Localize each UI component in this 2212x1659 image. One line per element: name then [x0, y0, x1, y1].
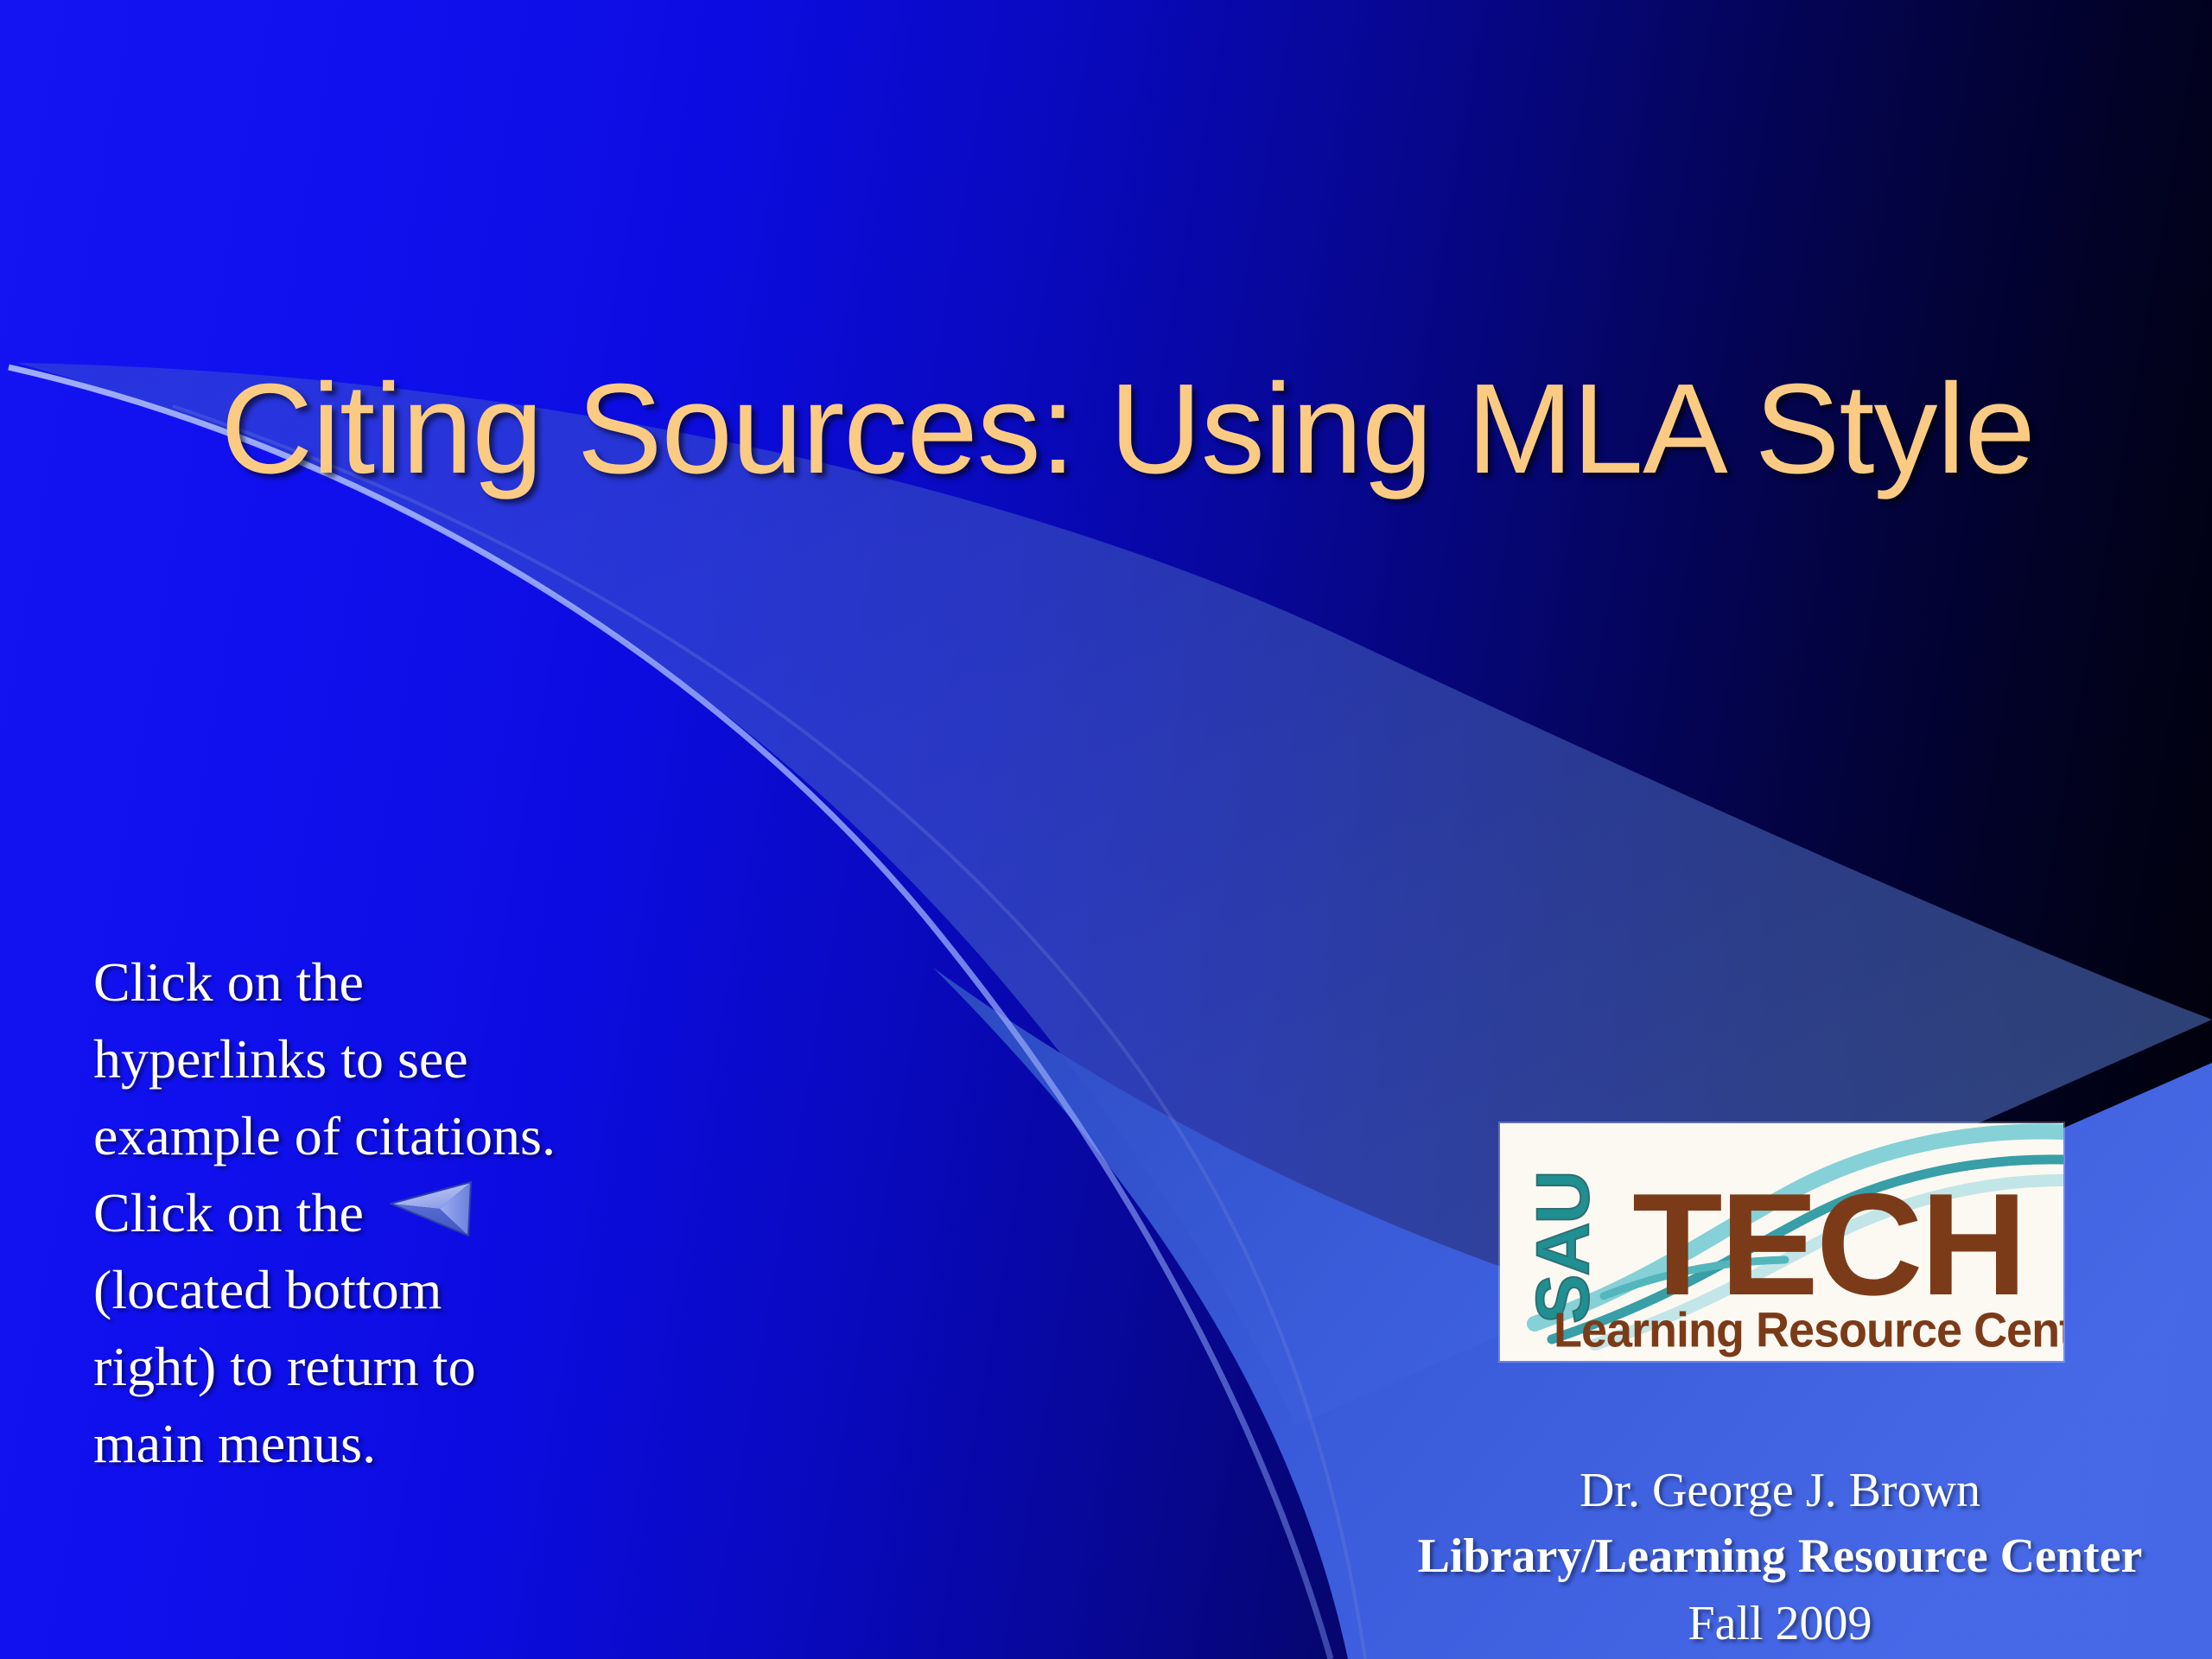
slide-title: Citing Sources: Using MLA Style — [104, 362, 2152, 496]
instruction-line-6: right) to return to — [93, 1328, 646, 1405]
back-arrow-icon[interactable] — [388, 1180, 474, 1239]
instruction-line-2: hyperlinks to see — [93, 1020, 646, 1097]
instruction-line-5: (located bottom — [93, 1251, 646, 1328]
credits-department: Library/Learning Resource Center — [1365, 1522, 2195, 1590]
sau-tech-logo: SAU TECH Learning Resource Center — [1500, 1123, 2063, 1361]
instruction-line-7: main menus. — [93, 1405, 646, 1482]
credits-block: Dr. George J. Brown Library/Learning Res… — [1365, 1459, 2195, 1657]
logo-lrc-text: Learning Resource Center — [1554, 1302, 2063, 1357]
instruction-line-1: Click on the — [93, 944, 646, 1020]
logo-sau-text: SAU — [1522, 1172, 1605, 1324]
logo-tech-text: TECH — [1632, 1163, 2024, 1325]
credits-term: Fall 2009 — [1365, 1590, 2195, 1657]
instruction-line-4: Click on the — [93, 1174, 364, 1251]
instructions-block: Click on the hyperlinks to see example o… — [93, 944, 646, 1482]
logo-artwork: SAU TECH Learning Resource Center — [1500, 1123, 2063, 1361]
presentation-slide: Citing Sources: Using MLA Style Click on… — [0, 0, 2212, 1659]
instruction-line-3: example of citations. — [93, 1097, 646, 1174]
instruction-line-4-with-arrow: Click on the — [93, 1174, 646, 1251]
credits-name: Dr. George J. Brown — [1365, 1459, 2195, 1522]
